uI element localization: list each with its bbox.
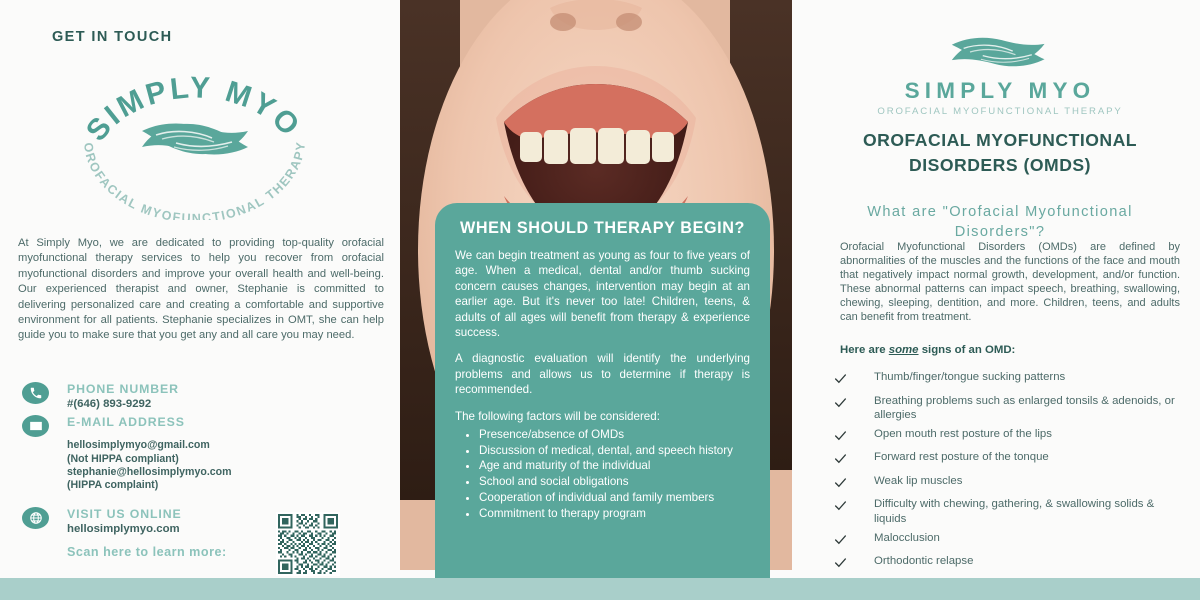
- checkmark-icon: [834, 474, 874, 493]
- globe-icon: [22, 507, 49, 529]
- signs-heading-post: signs of an OMD:: [919, 344, 1016, 356]
- signs-heading-pre: Here are: [840, 344, 889, 356]
- signs-heading: Here are some signs of an OMD:: [840, 344, 1015, 356]
- checkmark-icon: [834, 427, 874, 446]
- sign-label: Weak lip muscles: [874, 474, 962, 488]
- list-item: Difficulty with chewing, gathering, & sw…: [834, 497, 1184, 526]
- signs-heading-emphasis: some: [889, 344, 919, 356]
- envelope-icon: [22, 415, 49, 437]
- list-item: School and social obligations: [479, 474, 750, 489]
- list-item: Presence/absence of OMDs: [479, 427, 750, 442]
- list-item: Orthodontic relapse: [834, 554, 1184, 573]
- website-value: hellosimplymyo.com: [67, 522, 392, 536]
- sign-label: Open mouth rest posture of the lips: [874, 427, 1052, 441]
- intro-paragraph: At Simply Myo, we are dedicated to provi…: [18, 236, 384, 344]
- sign-label: Forward rest posture of the tonque: [874, 450, 1049, 464]
- omd-question-heading: What are "Orofacial Myofunctional Disord…: [820, 203, 1180, 242]
- email-primary: hellosimplymyo@gmail.com: [67, 439, 392, 452]
- sign-label: Difficulty with chewing, gathering, & sw…: [874, 497, 1184, 526]
- brand-name: SIMPLY MYO: [800, 78, 1200, 104]
- footer-accent-bar: [0, 578, 1200, 600]
- list-item: Breathing problems such as enlarged tons…: [834, 394, 1184, 423]
- sign-label: Malocclusion: [874, 531, 940, 545]
- when-should-therapy-begin-card: WHEN SHOULD THERAPY BEGIN? We can begin …: [435, 203, 770, 578]
- email-label: E-MAIL ADDRESS: [67, 415, 392, 430]
- list-item: Malocclusion: [834, 531, 1184, 550]
- list-item: Cooperation of individual and family mem…: [479, 490, 750, 505]
- page-title: OROFACIAL MYOFUNCTIONAL DISORDERS (OMDS): [820, 128, 1180, 178]
- list-item: Forward rest posture of the tonque: [834, 450, 1184, 469]
- factors-lead: The following factors will be considered…: [455, 409, 750, 424]
- checkmark-icon: [834, 554, 874, 573]
- email-secondary-note: (HIPPA complaint): [67, 479, 392, 492]
- factors-list: Presence/absence of OMDs Discussion of m…: [479, 427, 750, 521]
- list-item: Open mouth rest posture of the lips: [834, 427, 1184, 446]
- list-item: Age and maturity of the individual: [479, 458, 750, 473]
- list-item: Thumb/finger/tongue sucking patterns: [834, 370, 1184, 389]
- omd-signs-list: Thumb/finger/tongue sucking patterns Bre…: [834, 370, 1184, 600]
- brochure-page: GET IN TOUCH SIMPLY MYO OROFACIAL MYOFUN…: [0, 0, 1200, 600]
- list-item: Weak lip muscles: [834, 474, 1184, 493]
- sign-label: Breathing problems such as enlarged tons…: [874, 394, 1184, 423]
- email-primary-note: (Not HIPPA compliant): [67, 453, 392, 466]
- checkmark-icon: [834, 394, 874, 413]
- scan-instruction: Scan here to learn more:: [67, 545, 227, 559]
- checkmark-icon: [834, 497, 874, 516]
- phone-value: #(646) 893-9292: [67, 397, 392, 411]
- phone-icon: [22, 382, 49, 404]
- two-hands-leaves-icon: [950, 30, 1050, 74]
- simply-myo-circular-logo: SIMPLY MYO OROFACIAL MYOFUNCTIONAL THERA…: [62, 55, 327, 220]
- checkmark-icon: [834, 531, 874, 550]
- list-item: Discussion of medical, dental, and speec…: [479, 443, 750, 458]
- checkmark-icon: [834, 450, 874, 469]
- brand-tagline: OROFACIAL MYOFUNCTIONAL THERAPY: [800, 106, 1200, 117]
- phone-label: PHONE NUMBER: [67, 382, 392, 397]
- checkmark-icon: [834, 370, 874, 389]
- contact-row-phone[interactable]: PHONE NUMBER #(646) 893-9292: [22, 382, 392, 411]
- qr-code[interactable]: [276, 512, 340, 576]
- sign-label: Thumb/finger/tongue sucking patterns: [874, 370, 1065, 384]
- get-in-touch-heading: GET IN TOUCH: [52, 29, 172, 45]
- card-paragraph-1: We can begin treatment as young as four …: [455, 248, 750, 340]
- two-hands-leaves-icon: [142, 124, 248, 155]
- email-secondary: stephanie@hellosimplymyo.com: [67, 466, 392, 479]
- contact-row-email[interactable]: E-MAIL ADDRESS hellosimplymyo@gmail.com …: [22, 415, 392, 493]
- omd-description: Orofacial Myofunctional Disorders (OMDs)…: [840, 241, 1180, 324]
- list-item: Commitment to therapy program: [479, 506, 750, 521]
- website-label: VISIT US ONLINE: [67, 507, 392, 522]
- card-title: WHEN SHOULD THERAPY BEGIN?: [455, 217, 750, 239]
- left-panel-contact: GET IN TOUCH SIMPLY MYO OROFACIAL MYOFUN…: [0, 0, 400, 578]
- card-paragraph-2: A diagnostic evaluation will identify th…: [455, 351, 750, 397]
- sign-label: Orthodontic relapse: [874, 554, 973, 568]
